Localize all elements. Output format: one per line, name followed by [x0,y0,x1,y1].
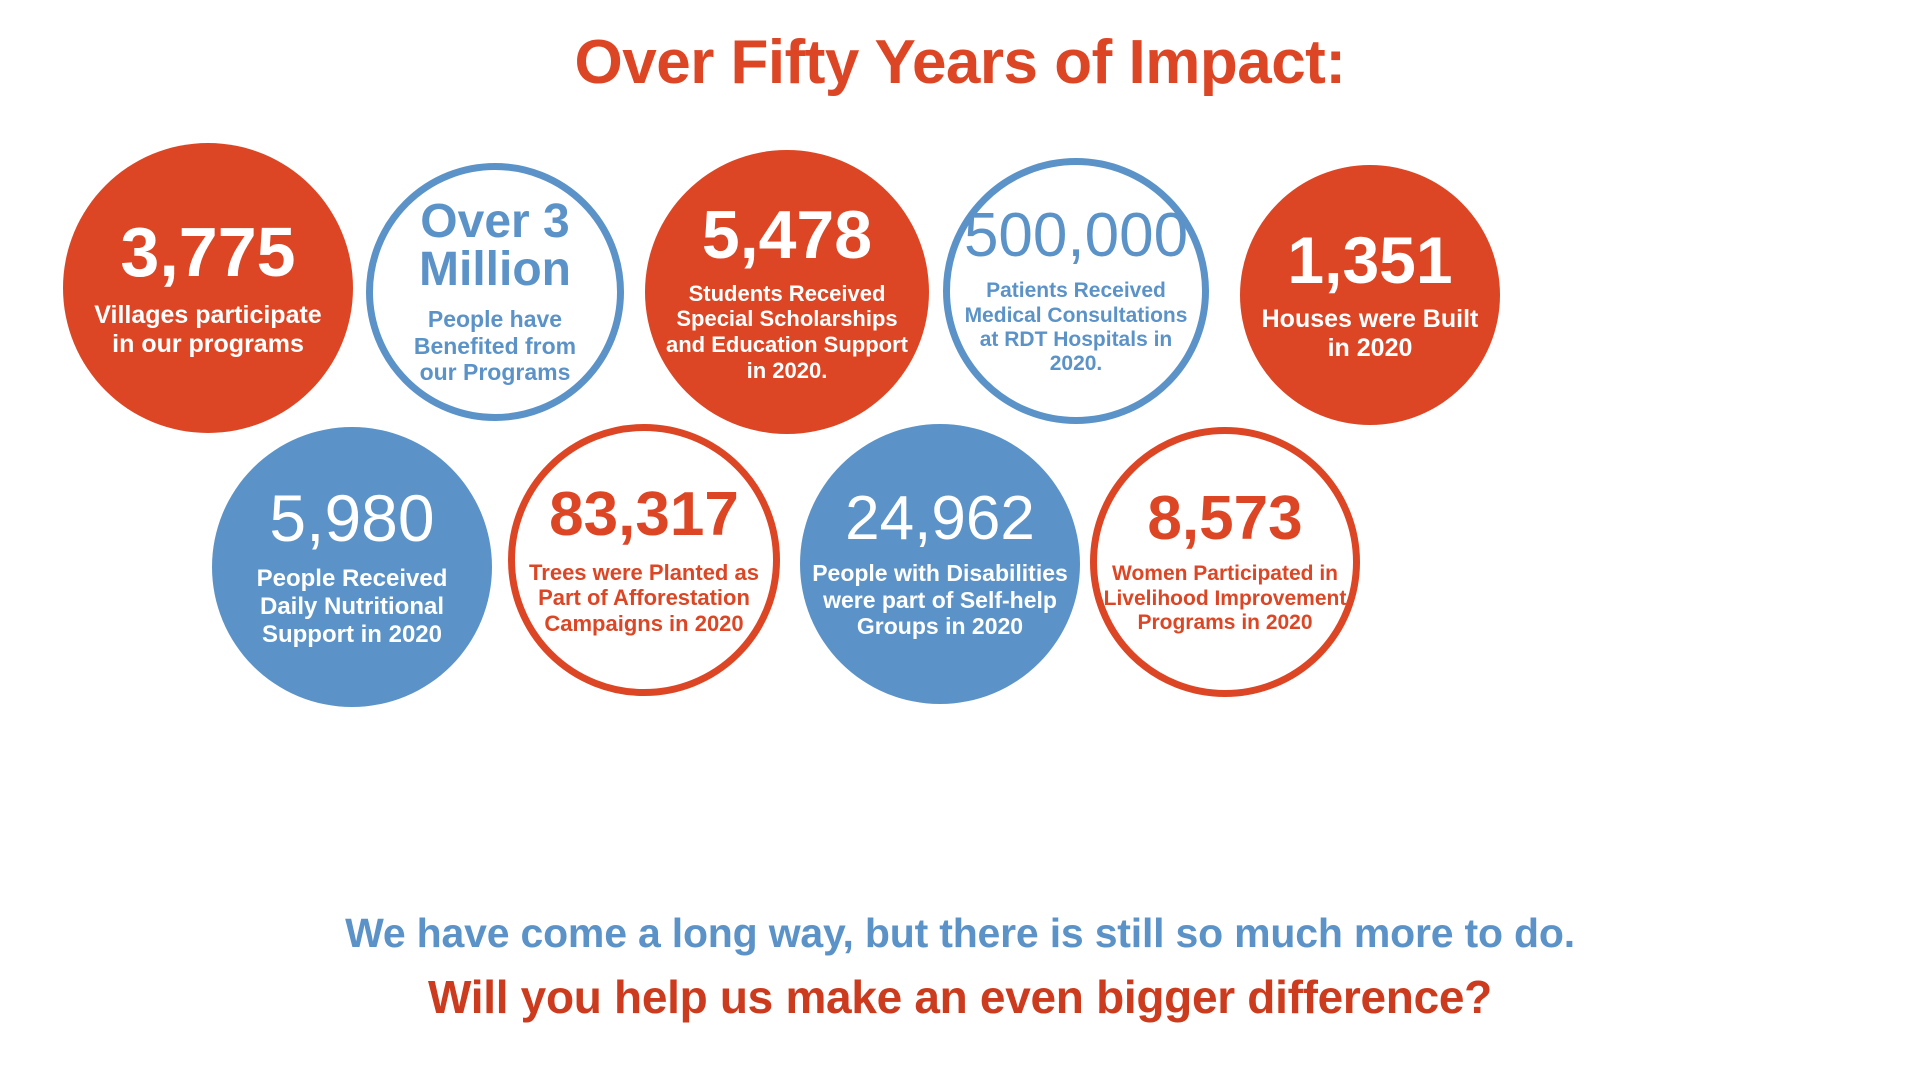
stat-number-houses-built: 1,351 [1287,227,1452,293]
footer-line-1: We have come a long way, but there is st… [0,910,1920,957]
stat-number-women-livelihood: 8,573 [1147,488,1302,550]
stat-number-villages: 3,775 [120,217,295,287]
stat-number-nutritional-support: 5,980 [269,485,434,551]
stat-circle-patients-consultations: 500,000 Patients Received Medical Consul… [943,158,1209,424]
stat-caption-students-scholarships: Students Received Special Scholarships a… [659,281,915,383]
stat-number-students-scholarships: 5,478 [702,201,872,269]
stat-number-trees-planted: 83,317 [549,484,739,546]
page-title: Over Fifty Years of Impact: [0,30,1920,95]
stat-caption-villages: Villages participate in our programs [89,301,327,359]
stat-caption-trees-planted: Trees were Planted as Part of Afforestat… [529,560,759,637]
stat-circle-students-scholarships: 5,478 Students Received Special Scholars… [645,150,929,434]
stat-caption-patients-consultations: Patients Received Medical Consultations … [956,279,1196,376]
stat-circle-people-benefited: Over 3 Million People have Benefited fro… [366,163,624,421]
stat-circle-women-livelihood: 8,573 Women Participated in Livelihood I… [1090,427,1360,697]
stat-number-patients-consultations: 500,000 [964,205,1188,267]
stat-circle-houses-built: 1,351 Houses were Built in 2020 [1240,165,1500,425]
stat-circle-villages: 3,775 Villages participate in our progra… [63,143,353,433]
stat-number-people-benefited: Over 3 Million [403,198,587,294]
stat-number-disabilities-selfhelp: 24,962 [845,488,1035,550]
stat-caption-women-livelihood: Women Participated in Livelihood Improve… [1103,562,1347,635]
stat-caption-people-benefited: People have Benefited from our Programs [403,306,587,386]
stat-circle-nutritional-support: 5,980 People Received Daily Nutritional … [212,427,492,707]
stat-caption-nutritional-support: People Received Daily Nutritional Suppor… [232,565,472,648]
stat-circle-trees-planted: 83,317 Trees were Planted as Part of Aff… [508,424,780,696]
footer-line-2: Will you help us make an even bigger dif… [0,970,1920,1024]
stat-circle-disabilities-selfhelp: 24,962 People with Disabilities were par… [800,424,1080,704]
stat-caption-houses-built: Houses were Built in 2020 [1260,305,1480,363]
stat-caption-disabilities-selfhelp: People with Disabilities were part of Se… [810,560,1070,640]
infographic-canvas: Over Fifty Years of Impact: 3,775 Villag… [0,0,1920,1080]
